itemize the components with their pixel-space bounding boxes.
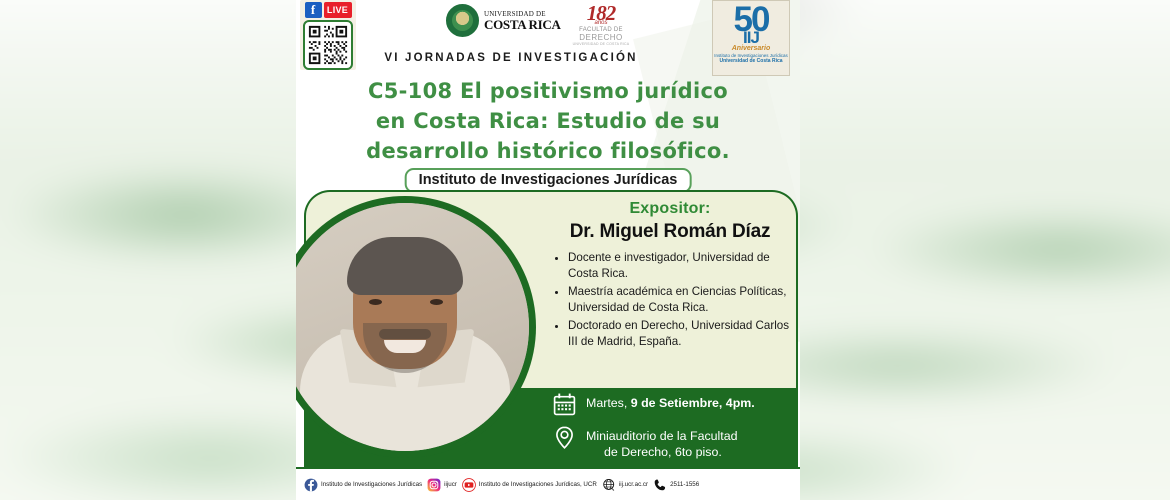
footer-website[interactable]: iij.ucr.ac.cr bbox=[602, 478, 648, 492]
footer-youtube-label: Instituto de Investigaciones Jurídicas, … bbox=[479, 481, 597, 488]
photo-moustache bbox=[379, 329, 431, 339]
live-badge: LIVE bbox=[324, 2, 352, 18]
event-date-prefix: Martes, bbox=[586, 396, 631, 410]
event-date-row: Martes, 9 de Setiembre, 4pm. bbox=[552, 392, 796, 417]
ucr-logo: UNIVERSIDAD DE COSTA RICA bbox=[446, 4, 561, 37]
event-place: Miniauditorio de la Facultad de Derecho,… bbox=[586, 425, 738, 460]
event-date: Martes, 9 de Setiembre, 4pm. bbox=[586, 392, 755, 411]
poster-content: f LIVE bbox=[296, 0, 800, 467]
phone-icon bbox=[653, 478, 667, 492]
photo-smile bbox=[384, 340, 426, 353]
credential-item: Docente e investigador, Universidad de C… bbox=[568, 250, 794, 281]
event-details: Martes, 9 de Setiembre, 4pm. Miniauditor… bbox=[552, 392, 796, 467]
globe-icon bbox=[602, 478, 616, 492]
page-title: C5-108 El positivismo jurídico en Costa … bbox=[316, 76, 780, 166]
location-pin-icon bbox=[552, 425, 577, 450]
facebook-icon: f bbox=[305, 2, 322, 18]
footer-phone-label: 2511-1556 bbox=[670, 481, 699, 488]
event-series-label: VI JORNADAS DE INVESTIGACIÓN bbox=[296, 52, 726, 64]
footer-youtube[interactable]: Instituto de Investigaciones Jurídicas, … bbox=[462, 478, 597, 492]
footer-facebook[interactable]: Instituto de Investigaciones Jurídicas bbox=[304, 478, 422, 492]
credential-item: Doctorado en Derecho, Universidad Carlos… bbox=[568, 318, 794, 349]
footer-website-label: iij.ucr.ac.cr bbox=[619, 481, 648, 488]
derecho-line2: DERECHO bbox=[572, 34, 630, 42]
facultad-derecho-logo: 182 años FACULTAD DE DERECHO UNIVERSIDAD… bbox=[572, 3, 630, 48]
event-place-row: Miniauditorio de la Facultad de Derecho,… bbox=[552, 425, 796, 460]
credential-item: Maestría académica en Ciencias Políticas… bbox=[568, 284, 794, 315]
derecho-anos-label: años bbox=[572, 20, 630, 26]
title-line-1: C5-108 El positivismo jurídico bbox=[316, 76, 780, 106]
photo-eye-right bbox=[430, 299, 443, 305]
facebook-live-badge: f LIVE bbox=[303, 2, 353, 18]
event-place-line1: Miniauditorio de la Facultad bbox=[586, 428, 738, 444]
derecho-line3: UNIVERSIDAD DE COSTA RICA bbox=[572, 42, 630, 46]
footer-instagram[interactable]: iijucr bbox=[427, 478, 457, 492]
speaker-photo-frame bbox=[296, 196, 536, 458]
ucr-seal-icon bbox=[446, 4, 479, 37]
poster-header: f LIVE bbox=[296, 0, 800, 80]
ucr-logo-line2: COSTA RICA bbox=[484, 18, 561, 31]
iij-50-aniversario-logo: 50 IIJ Aniversario Instituto de Investig… bbox=[712, 0, 790, 76]
calendar-icon bbox=[552, 392, 577, 417]
speaker-credentials: Docente e investigador, Universidad de C… bbox=[546, 250, 794, 349]
title-line-2: en Costa Rica: Estudio de su bbox=[316, 106, 780, 136]
photo-hair bbox=[347, 237, 463, 295]
footer-phone[interactable]: 2511-1556 bbox=[653, 478, 699, 492]
speaker-name: Dr. Miguel Román Díaz bbox=[546, 221, 794, 243]
footer-facebook-label: Instituto de Investigaciones Jurídicas bbox=[321, 481, 422, 488]
facebook-icon bbox=[304, 478, 318, 492]
title-line-3: desarrollo histórico filosófico. bbox=[316, 136, 780, 166]
speaker-photo bbox=[296, 203, 529, 451]
event-date-value: 9 de Setiembre, 4pm. bbox=[631, 396, 755, 410]
instagram-icon bbox=[427, 478, 441, 492]
photo-eye-left bbox=[369, 299, 382, 305]
event-place-line2: de Derecho, 6to piso. bbox=[586, 444, 738, 460]
event-poster: f LIVE bbox=[296, 0, 800, 500]
iij50-mark: IIJ bbox=[713, 31, 789, 45]
expositor-label: Expositor: bbox=[546, 200, 794, 218]
speaker-block: Expositor: Dr. Miguel Román Díaz Docente… bbox=[546, 200, 794, 352]
footer-instagram-label: iijucr bbox=[444, 481, 457, 488]
social-footer: Instituto de Investigaciones Jurídicas i… bbox=[296, 467, 800, 500]
youtube-icon bbox=[462, 478, 476, 492]
